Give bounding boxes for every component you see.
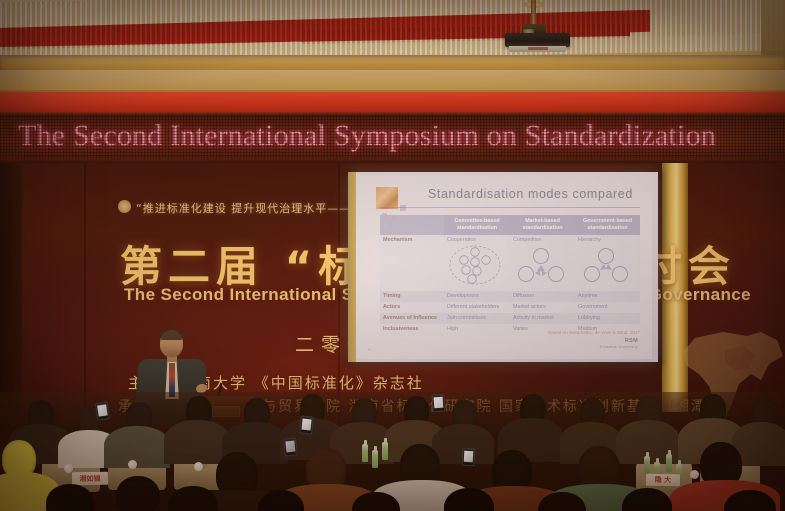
- cell-avenues-committee: Join committees: [444, 313, 510, 324]
- cell-actors-committee: Different stakeholders: [444, 302, 510, 313]
- cell-timing-committee: Development: [444, 291, 510, 302]
- upper-wall-gold-trim: [0, 70, 785, 90]
- table-row-mechanism: Mechanism Cooperation: [380, 235, 640, 291]
- led-frame-top-edge: [0, 112, 785, 115]
- speaker-glasses: [161, 339, 182, 343]
- cell-mechanism-market: Competition: [510, 235, 575, 291]
- ceiling-right-shadow: [761, 0, 785, 62]
- projector-mount-pole: [531, 0, 536, 26]
- diagram-caption-hierarchy: Hierarchy: [578, 237, 637, 244]
- upper-wall-red-strip: [0, 92, 785, 114]
- speaker-hair: [159, 329, 184, 339]
- table-header-row: Committee-based standardisation Market-b…: [380, 215, 640, 235]
- cell-timing-market: Diffusion: [510, 291, 575, 302]
- table-col-header-government: Government-based standardisation: [575, 215, 640, 235]
- water-bottle: [372, 450, 378, 468]
- slide-deco-square-1: [400, 205, 406, 211]
- table-row-timing: Timing Development Diffusion Anytime: [380, 291, 640, 302]
- table-row-avenues-of-influence: Avenues of Influence Join committees Act…: [380, 313, 640, 324]
- standardisation-modes-table: Committee-based standardisation Market-b…: [380, 215, 640, 336]
- table-name-card: 湘如锦: [72, 472, 108, 486]
- tea-cup: [128, 460, 137, 469]
- audience-phone-camera: [95, 401, 110, 421]
- audience-phone-camera: [283, 437, 298, 456]
- hierarchy-diagram-icon: [578, 245, 634, 285]
- slide-logo: RSM Erasmus University: [600, 339, 638, 349]
- cell-avenues-government: Lobbying: [575, 313, 640, 324]
- table-col-header-market: Market-based standardisation: [510, 215, 575, 235]
- audience-seating-area: 省质标院 湘如锦 隐 大: [0, 392, 785, 511]
- audience-shoulders: [104, 426, 170, 468]
- table-col-header-committee: Committee-based standardisation: [444, 215, 510, 235]
- projection-screen: Standardisation modes compared Committee…: [348, 172, 658, 362]
- slide-page-number: 4: [368, 347, 371, 352]
- led-display-banner: The Second International Symposium on St…: [0, 112, 785, 162]
- cell-actors-government: Government: [575, 302, 640, 313]
- cell-mechanism-government: Hierarchy: [575, 235, 640, 291]
- audience-phone-camera: [462, 448, 476, 467]
- cell-inclusiveness-committee: High: [444, 324, 510, 335]
- presentation-slide: Standardisation modes compared Committee…: [356, 175, 652, 359]
- slide-decorative-image: [376, 187, 398, 209]
- audience-shoulders: [164, 420, 230, 464]
- row-label-inclusiveness: Inclusiveness: [380, 324, 444, 335]
- led-banner-text: The Second International Symposium on St…: [18, 119, 716, 153]
- table-row-actors: Actors Different stakeholders Market act…: [380, 302, 640, 313]
- slide-title-rule: [380, 207, 640, 208]
- led-frame-bottom-edge: [0, 158, 785, 163]
- row-label-timing: Timing: [380, 291, 444, 302]
- conference-photo: The Second International Symposium on St…: [0, 0, 785, 511]
- competition-diagram-icon: [513, 245, 569, 285]
- row-label-mechanism: Mechanism: [380, 235, 444, 291]
- cooperation-diagram-icon: [447, 245, 503, 285]
- water-bottle: [666, 454, 672, 472]
- tea-cup: [194, 462, 203, 471]
- diagram-caption-competition: Competition: [513, 237, 572, 244]
- banner-seal-emblem: [118, 200, 131, 213]
- water-bottle: [644, 456, 650, 474]
- cell-timing-government: Anytime: [575, 291, 640, 302]
- slide-title: Standardisation modes compared: [428, 187, 633, 201]
- row-label-actors: Actors: [380, 302, 444, 313]
- water-bottle: [362, 444, 368, 462]
- projector-body: [505, 33, 570, 47]
- diagram-caption-cooperation: Cooperation: [447, 237, 507, 244]
- table-corner-cell: [380, 215, 444, 235]
- slide-logo-erasmus: Erasmus University: [600, 345, 638, 349]
- audience-head: [116, 476, 160, 511]
- row-label-avenues-of-influence: Avenues of Influence: [380, 313, 444, 324]
- cell-mechanism-committee: Cooperation: [444, 235, 510, 291]
- tea-cup: [690, 470, 699, 479]
- audience-phone-camera: [431, 394, 445, 413]
- water-bottle: [382, 442, 388, 460]
- screen-left-frame: [348, 172, 356, 362]
- cell-actors-market: Market actors: [510, 302, 575, 313]
- backdrop-left-post: [0, 160, 22, 410]
- slide-source-citation: Based on Wiegmann,, de Vries & Blind, 20…: [548, 330, 640, 335]
- backdrop-seam-left: [84, 160, 86, 420]
- banner-slogan: “推进标准化建设 提升现代治理水平——: [136, 200, 351, 216]
- table-name-card: 隐 大: [646, 474, 680, 487]
- projector-brand-label: [528, 47, 548, 50]
- audience-phone-camera: [299, 415, 314, 434]
- cell-avenues-market: Activity in market: [510, 313, 575, 324]
